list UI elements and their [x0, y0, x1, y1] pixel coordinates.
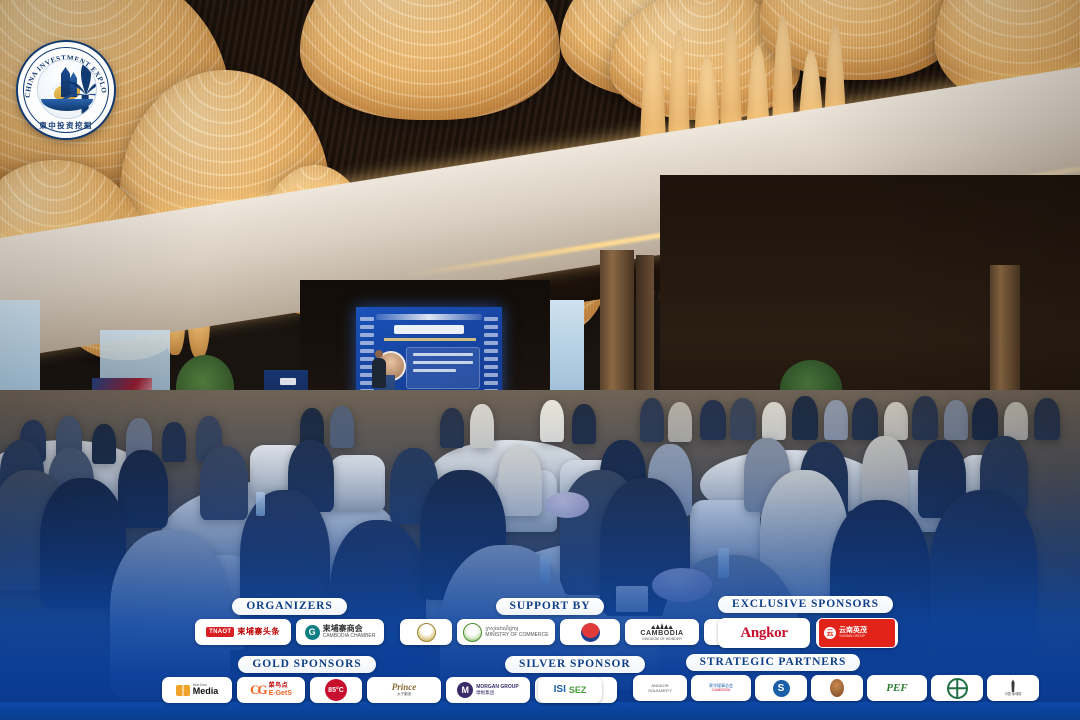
angkor-solidarity-sublabel: SOLIDARITY [648, 689, 672, 693]
ministry-label: ក្រសួងពាណិជ្ជកម្ម [485, 627, 548, 632]
stage-banner-left-logo [280, 378, 296, 385]
sponsor-group-support-by: SUPPORT BY ក្រសួងពាណិជ្ជកម្ម MINISTRY OF… [400, 596, 762, 645]
logo-e-gets[interactable]: CG 菜鸟点 E-GetS [237, 677, 305, 703]
sponsor-group-label: ORGANIZERS [232, 598, 346, 615]
green-seal-icon [463, 623, 482, 642]
tnaot-label: 柬埔寨头条 [237, 628, 280, 636]
sponsor-group-exclusive-sponsors: EXCLUSIVE SPONSORS Angkor 云 云南英茂 YUNNAN … [718, 594, 898, 648]
prince-label: Prince [392, 683, 417, 692]
media-label: Media [193, 687, 219, 696]
bottom-blue-band [0, 702, 1080, 720]
logo-prince[interactable]: Prince 太子集团 [367, 677, 441, 703]
gold-seal-icon [417, 623, 436, 642]
isi-label: ISI [554, 685, 566, 695]
logo-g-circle[interactable]: G 柬埔寨商会 CAMBODIA CHAMBER [296, 619, 384, 645]
logo-royal-government-seal[interactable] [400, 619, 452, 645]
85c-mark: 85°C [325, 679, 347, 701]
pef-label: PEF [886, 683, 907, 694]
emblem-inner-scene [37, 59, 97, 119]
water-bottle [540, 555, 550, 583]
tnaot-badge: TNAOT [206, 627, 234, 637]
red-box-sublabel: YUNNAN GROUP [839, 635, 867, 638]
logo-ministry-of-commerce[interactable]: ក្រសួងពាណិជ្ជកម្ម MINISTRY OF COMMERCE [457, 619, 555, 645]
sponsor-group-label: SILVER SPONSOR [505, 656, 645, 673]
prince-sublabel: 太子集团 [397, 693, 411, 697]
sponsor-group-label: SUPPORT BY [496, 598, 605, 615]
speaker-on-stage [372, 358, 386, 388]
logo-pef[interactable]: PEF [867, 675, 927, 701]
sponsor-group-label: STRATEGIC PARTNERS [686, 654, 861, 671]
temple-icon [651, 622, 673, 629]
tower-label: 中国·柬埔寨 [1005, 693, 1022, 696]
book-icon [176, 685, 190, 696]
logo-tower-mark[interactable]: 中国·柬埔寨 [987, 675, 1039, 701]
s-circle-icon: S [773, 680, 790, 697]
brown-seal-icon [830, 679, 844, 697]
g-circle-icon: G [305, 625, 320, 640]
cambodia-china-investment-exploration-tour-emblem: CAMBODIA - CHINA INVESTMENT EXPLORATION … [18, 42, 114, 138]
g-circle-label: 柬埔寨商会 [323, 625, 376, 633]
water-bottle [718, 548, 729, 578]
flower-centerpiece [545, 492, 589, 518]
sponsor-group-label: EXCLUSIVE SPONSORS [718, 596, 893, 613]
logo-85c[interactable]: 85°C [310, 677, 362, 703]
tower-icon [1009, 679, 1018, 692]
logo-chinese-partner-1[interactable]: 柬华理事总会 CAMBODIA [691, 675, 751, 701]
logo-angkor[interactable]: Angkor [718, 618, 810, 648]
red-circle-icon [581, 623, 600, 642]
sponsor-group-label: GOLD SPONSORS [238, 656, 375, 673]
logo-chinese-red-box[interactable]: 云 云南英茂 YUNNAN GROUP [816, 618, 898, 648]
sponsor-group-silver-sponsor: SILVER SPONSOR ISI SEZ [505, 654, 635, 703]
ministry-sublabel: MINISTRY OF COMMERCE [485, 633, 548, 638]
partner1-sublabel: CAMBODIA [712, 689, 731, 693]
angkor-wordmark: Angkor [740, 625, 787, 642]
logo-media[interactable]: Next Door Media [162, 677, 232, 703]
logo-brown-seal[interactable] [811, 675, 863, 701]
red-box-mark: 云 云南英茂 YUNNAN GROUP [819, 619, 895, 647]
sez-label: SEZ [569, 686, 587, 695]
red-box-label: 云南英茂 [839, 627, 867, 634]
sponsor-group-organizers: ORGANIZERS TNAOT 柬埔寨头条 G 柬埔寨商会 CAMBODIA … [195, 596, 384, 645]
cambodia-label: CAMBODIA [640, 630, 683, 637]
water-bottle [256, 492, 265, 516]
logo-globe[interactable] [931, 675, 983, 701]
event-photo-banner: CAMBODIA - CHINA INVESTMENT EXPLORATION … [0, 0, 1080, 720]
red-box-circle-icon: 云 [824, 627, 836, 639]
e-gets-sublabel: 菜鸟点 [269, 683, 292, 689]
logo-angkor-solidarity[interactable]: ANGKOR SOLIDARITY [633, 675, 687, 701]
cg-icon: CG [250, 682, 266, 698]
cambodia-sublabel: KINGDOM OF WONDER [642, 638, 681, 642]
logo-red-blue-circle[interactable] [560, 619, 620, 645]
morgan-icon: M [457, 682, 473, 698]
logo-isi-sez[interactable]: ISI SEZ [538, 677, 602, 703]
banquet-chair [330, 455, 385, 510]
g-circle-sublabel: CAMBODIA CHAMBER [323, 634, 376, 639]
e-gets-label: E-GetS [269, 690, 292, 697]
emblem-chinese-text: 柬中投资挖掘 [18, 120, 114, 131]
logo-cambodia-wordmark[interactable]: CAMBODIA KINGDOM OF WONDER [625, 619, 699, 645]
logo-tnaot[interactable]: TNAOT 柬埔寨头条 [195, 619, 291, 645]
angkor-solidarity-label: ANGKOR [651, 684, 668, 688]
sponsor-group-strategic-partners: STRATEGIC PARTNERS ANGKOR SOLIDARITY 柬华理… [633, 652, 1039, 701]
logo-s-circle[interactable]: S [755, 675, 807, 701]
globe-icon [947, 678, 968, 699]
